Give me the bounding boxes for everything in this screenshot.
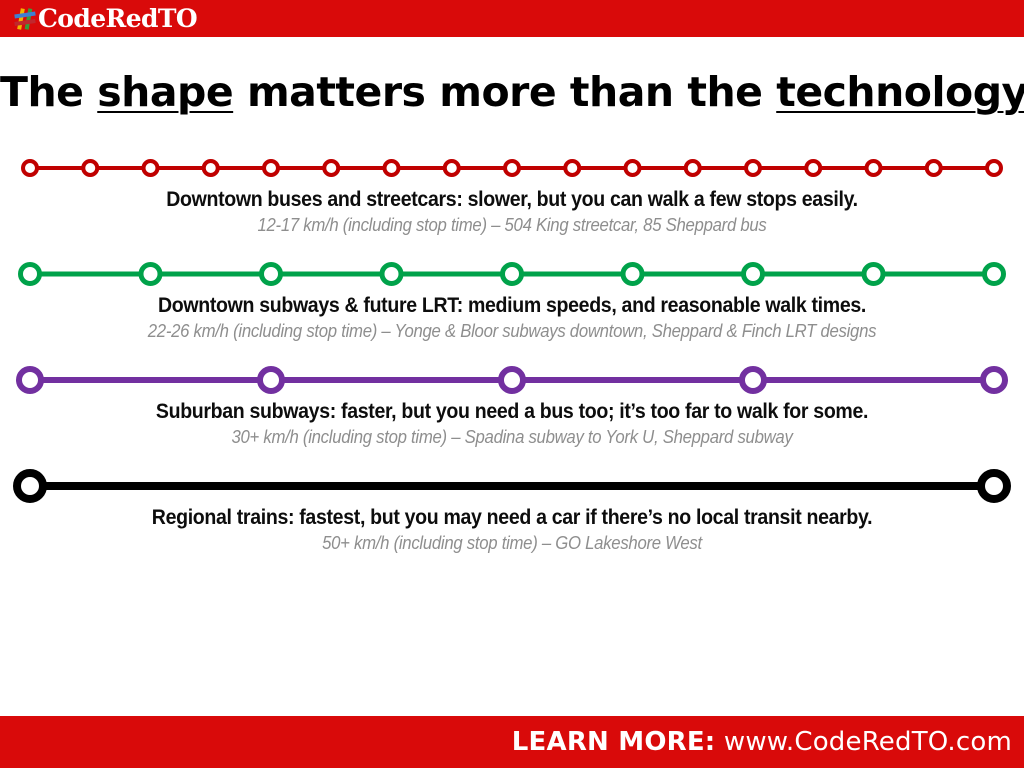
transit-line-graphic [0,466,1024,506]
transit-line-downtown-surface [0,148,1024,188]
brand-bar: CodeRedTO [0,0,1024,37]
headline-part-2: matters more than the [233,68,776,116]
page-title: The shape matters more than the technolo… [0,68,1024,116]
transit-block-downtown-subway-lrt: Downtown subways & future LRT: medium sp… [0,254,1024,342]
hashtag-icon [13,7,37,31]
transit-caption: Suburban subways: faster, but you need a… [36,400,988,424]
transit-line-downtown-subway-lrt [0,254,1024,294]
transit-subcaption: 50+ km/h (including stop time) – GO Lake… [36,532,988,555]
transit-comparison-diagram: Downtown buses and streetcars: slower, b… [0,148,1024,554]
headline-emphasis-technology: technology [776,68,1024,116]
headline-part-1: The [0,68,97,116]
footer-lead-label: LEARN MORE: [512,727,716,757]
transit-line-graphic [0,148,1024,188]
transit-subcaption: 30+ km/h (including stop time) – Spadina… [36,426,988,449]
transit-line-graphic [0,254,1024,294]
brand-lockup: CodeRedTO [13,6,197,31]
transit-caption: Regional trains: fastest, but you may ne… [36,506,988,530]
transit-block-suburban-subway: Suburban subways: faster, but you need a… [0,360,1024,448]
transit-subcaption: 22-26 km/h (including stop time) – Yonge… [36,320,988,343]
transit-line-suburban-subway [0,360,1024,400]
footer-url[interactable]: www.CodeRedTO.com [724,727,1012,757]
transit-block-downtown-surface: Downtown buses and streetcars: slower, b… [0,148,1024,236]
headline-emphasis-shape: shape [97,68,233,116]
transit-caption: Downtown subways & future LRT: medium sp… [36,294,988,318]
transit-subcaption: 12-17 km/h (including stop time) – 504 K… [36,214,988,237]
footer-learn-more: LEARN MORE: www.CodeRedTO.com [512,727,1012,757]
transit-block-regional-rail: Regional trains: fastest, but you may ne… [0,466,1024,554]
transit-caption: Downtown buses and streetcars: slower, b… [36,188,988,212]
footer-bar: LEARN MORE: www.CodeRedTO.com [0,716,1024,768]
transit-line-regional-rail [0,466,1024,506]
transit-line-graphic [0,360,1024,400]
brand-name: CodeRedTO [38,6,197,31]
